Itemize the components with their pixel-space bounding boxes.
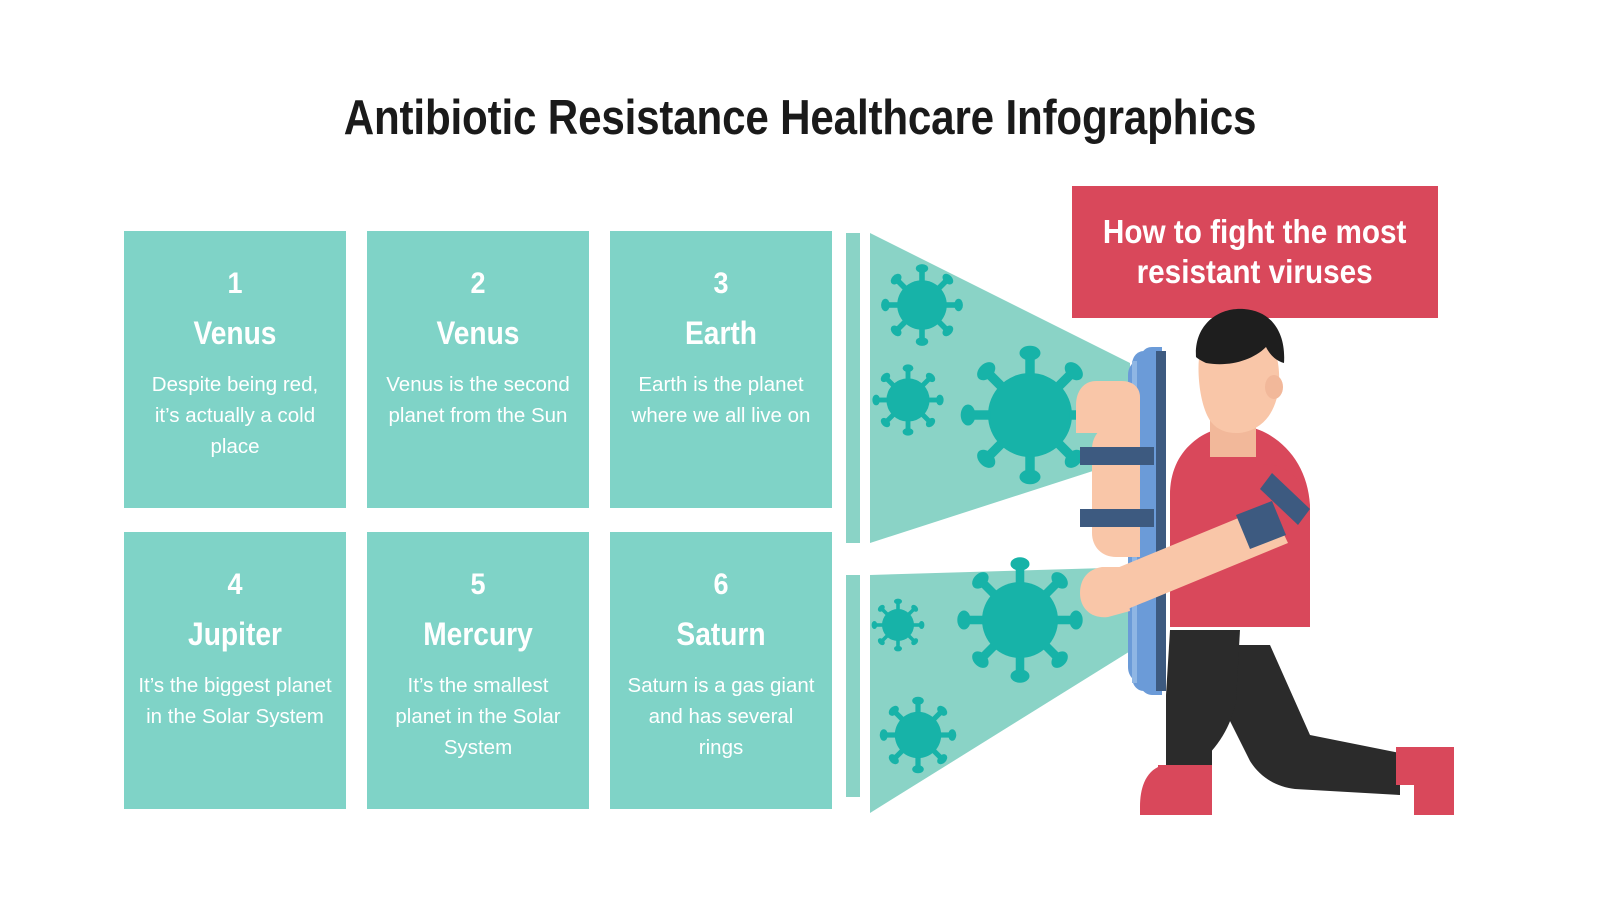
person-back-boot	[1396, 747, 1454, 815]
card-description: Despite being red, it’s actually a cold …	[138, 369, 332, 462]
card-number: 2	[391, 269, 566, 299]
card-description: It’s the biggest planet in the Solar Sys…	[138, 670, 332, 732]
person-ear	[1265, 375, 1283, 399]
person-fist	[1076, 381, 1140, 433]
card-number: 3	[634, 269, 809, 299]
card-2[interactable]: 2 Venus Venus is the second planet from …	[367, 231, 589, 508]
shield-strap-lower	[1080, 509, 1154, 527]
beam-edge-lower	[846, 575, 860, 797]
card-3[interactable]: 3 Earth Earth is the planet where we all…	[610, 231, 832, 508]
card-description: Earth is the planet where we all live on	[624, 369, 818, 431]
illustration-person-with-shield	[840, 175, 1480, 815]
card-description: Venus is the second planet from the Sun	[381, 369, 575, 431]
beam-edge-upper	[846, 233, 860, 543]
card-title: Earth	[636, 317, 807, 349]
card-5[interactable]: 5 Mercury It’s the smallest planet in th…	[367, 532, 589, 809]
virus-small-upper-2	[872, 364, 943, 435]
planet-cards-grid: 1 Venus Despite being red, it’s actually…	[124, 231, 832, 809]
infographic-slide: Antibiotic Resistance Healthcare Infogra…	[0, 0, 1600, 900]
card-number: 1	[148, 269, 323, 299]
card-description: It’s the smallest planet in the Solar Sy…	[381, 670, 575, 763]
card-title: Venus	[150, 317, 321, 349]
card-number: 4	[148, 570, 323, 600]
virus-small-upper	[881, 264, 963, 346]
person-front-boot	[1138, 765, 1214, 815]
card-number: 5	[391, 570, 566, 600]
virus-small-lower	[880, 697, 957, 774]
card-title: Venus	[393, 317, 564, 349]
person-lower-hand	[1080, 567, 1130, 617]
card-1[interactable]: 1 Venus Despite being red, it’s actually…	[124, 231, 346, 508]
person-kneeling	[1076, 309, 1454, 815]
virus-large-lower	[957, 557, 1082, 682]
card-4[interactable]: 4 Jupiter It’s the biggest planet in the…	[124, 532, 346, 809]
card-6[interactable]: 6 Saturn Saturn is a gas giant and has s…	[610, 532, 832, 809]
virus-tiny-lower	[872, 599, 925, 652]
card-title: Mercury	[393, 618, 564, 650]
card-title: Jupiter	[150, 618, 321, 650]
page-title: Antibiotic Resistance Healthcare Infogra…	[112, 90, 1488, 146]
person-upper-forearm	[1092, 425, 1140, 557]
card-description: Saturn is a gas giant and has several ri…	[624, 670, 818, 763]
shield-strap-upper	[1080, 447, 1154, 465]
card-title: Saturn	[636, 618, 807, 650]
card-number: 6	[634, 570, 809, 600]
